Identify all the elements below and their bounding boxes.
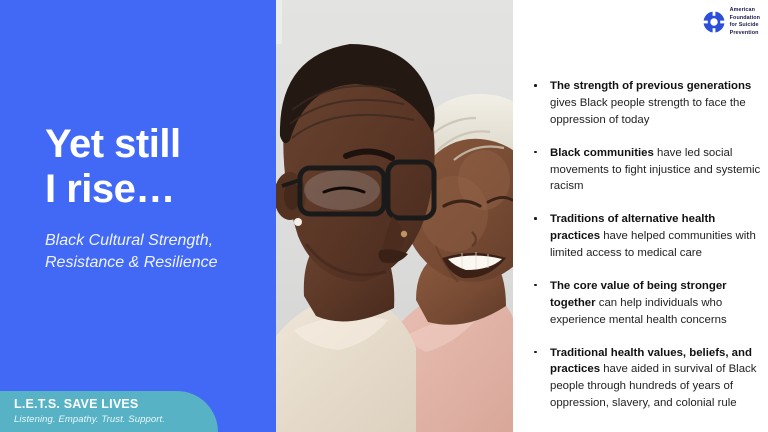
list-item: Traditions of alternative health practic… [522,211,762,262]
slide: Yet still I rise… Black Cultural Strengt… [0,0,768,432]
photo-illustration [276,0,513,432]
footer-banner: L.E.T.S. SAVE LIVES Listening. Empathy. … [0,391,218,432]
bullet-dot-icon [534,84,537,87]
afsp-logo: American Foundation for Suicide Preventi… [702,7,760,38]
bullet-lead: Black communities [550,147,654,159]
list-item: The core value of being stronger togethe… [522,278,762,329]
bullet-lead: The strength of previous generations [550,80,751,92]
bullet-dot-icon [534,151,537,154]
bullet-dot-icon [534,284,537,287]
bullet-rest: gives Black people strength to face the … [550,97,746,126]
page-subtitle: Black Cultural Strength, Resistance & Re… [45,230,275,274]
title-panel: Yet still I rise… Black Cultural Strengt… [0,0,276,432]
life-ring-icon [702,10,726,34]
title-block: Yet still I rise… Black Cultural Strengt… [45,122,275,274]
bullet-dot-icon [534,217,537,220]
list-item: Black communities have led social moveme… [522,145,762,196]
logo-wordmark: American Foundation for Suicide Preventi… [730,7,760,38]
list-item: Traditional health values, beliefs, and … [522,345,762,413]
list-item: The strength of previous generations giv… [522,78,762,129]
footer-tagline: Listening. Empathy. Trust. Support. [14,414,165,425]
bullet-dot-icon [534,351,537,354]
bullet-list: The strength of previous generations giv… [522,78,762,412]
page-title: Yet still I rise… [45,122,275,212]
photo-portrait [276,0,513,432]
content-panel: American Foundation for Suicide Preventi… [513,0,768,432]
footer-title: L.E.T.S. SAVE LIVES [14,397,138,411]
